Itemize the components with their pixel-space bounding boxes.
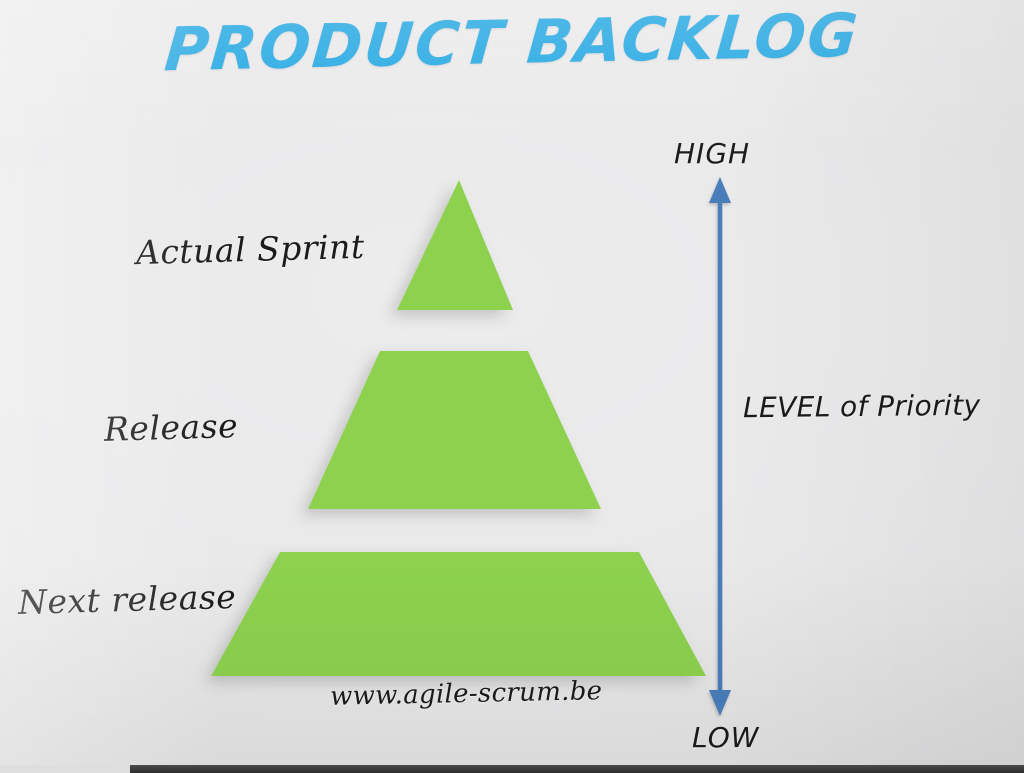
pyramid-tier-next-release <box>211 552 706 676</box>
arrow-head-up-icon <box>709 177 731 203</box>
pyramid-tier-actual-sprint <box>397 180 513 310</box>
axis-caption-level-of-priority: LEVEL of Priority <box>743 389 981 424</box>
page-title: PRODUCT BACKLOG <box>0 0 1024 89</box>
pyramid-graphic <box>0 0 1024 773</box>
pyramid-tier-release <box>308 351 601 509</box>
tier-label-next-release: Next release <box>17 577 236 622</box>
bottom-bar-left-gap <box>0 765 130 773</box>
tier-label-actual-sprint: Actual Sprint <box>136 227 366 272</box>
background-vignette <box>0 0 1024 773</box>
bottom-filmstrip-bar <box>130 765 1024 773</box>
priority-axis-arrow <box>709 177 731 716</box>
axis-label-low: LOW <box>692 721 759 754</box>
slide-canvas: PRODUCT BACKLOG Actual Sprint Release Ne… <box>0 0 1024 773</box>
website-url: www.agile-scrum.be <box>330 676 603 712</box>
axis-label-high: HIGH <box>674 137 750 170</box>
arrow-head-down-icon <box>709 690 731 716</box>
tier-label-release: Release <box>103 406 238 449</box>
